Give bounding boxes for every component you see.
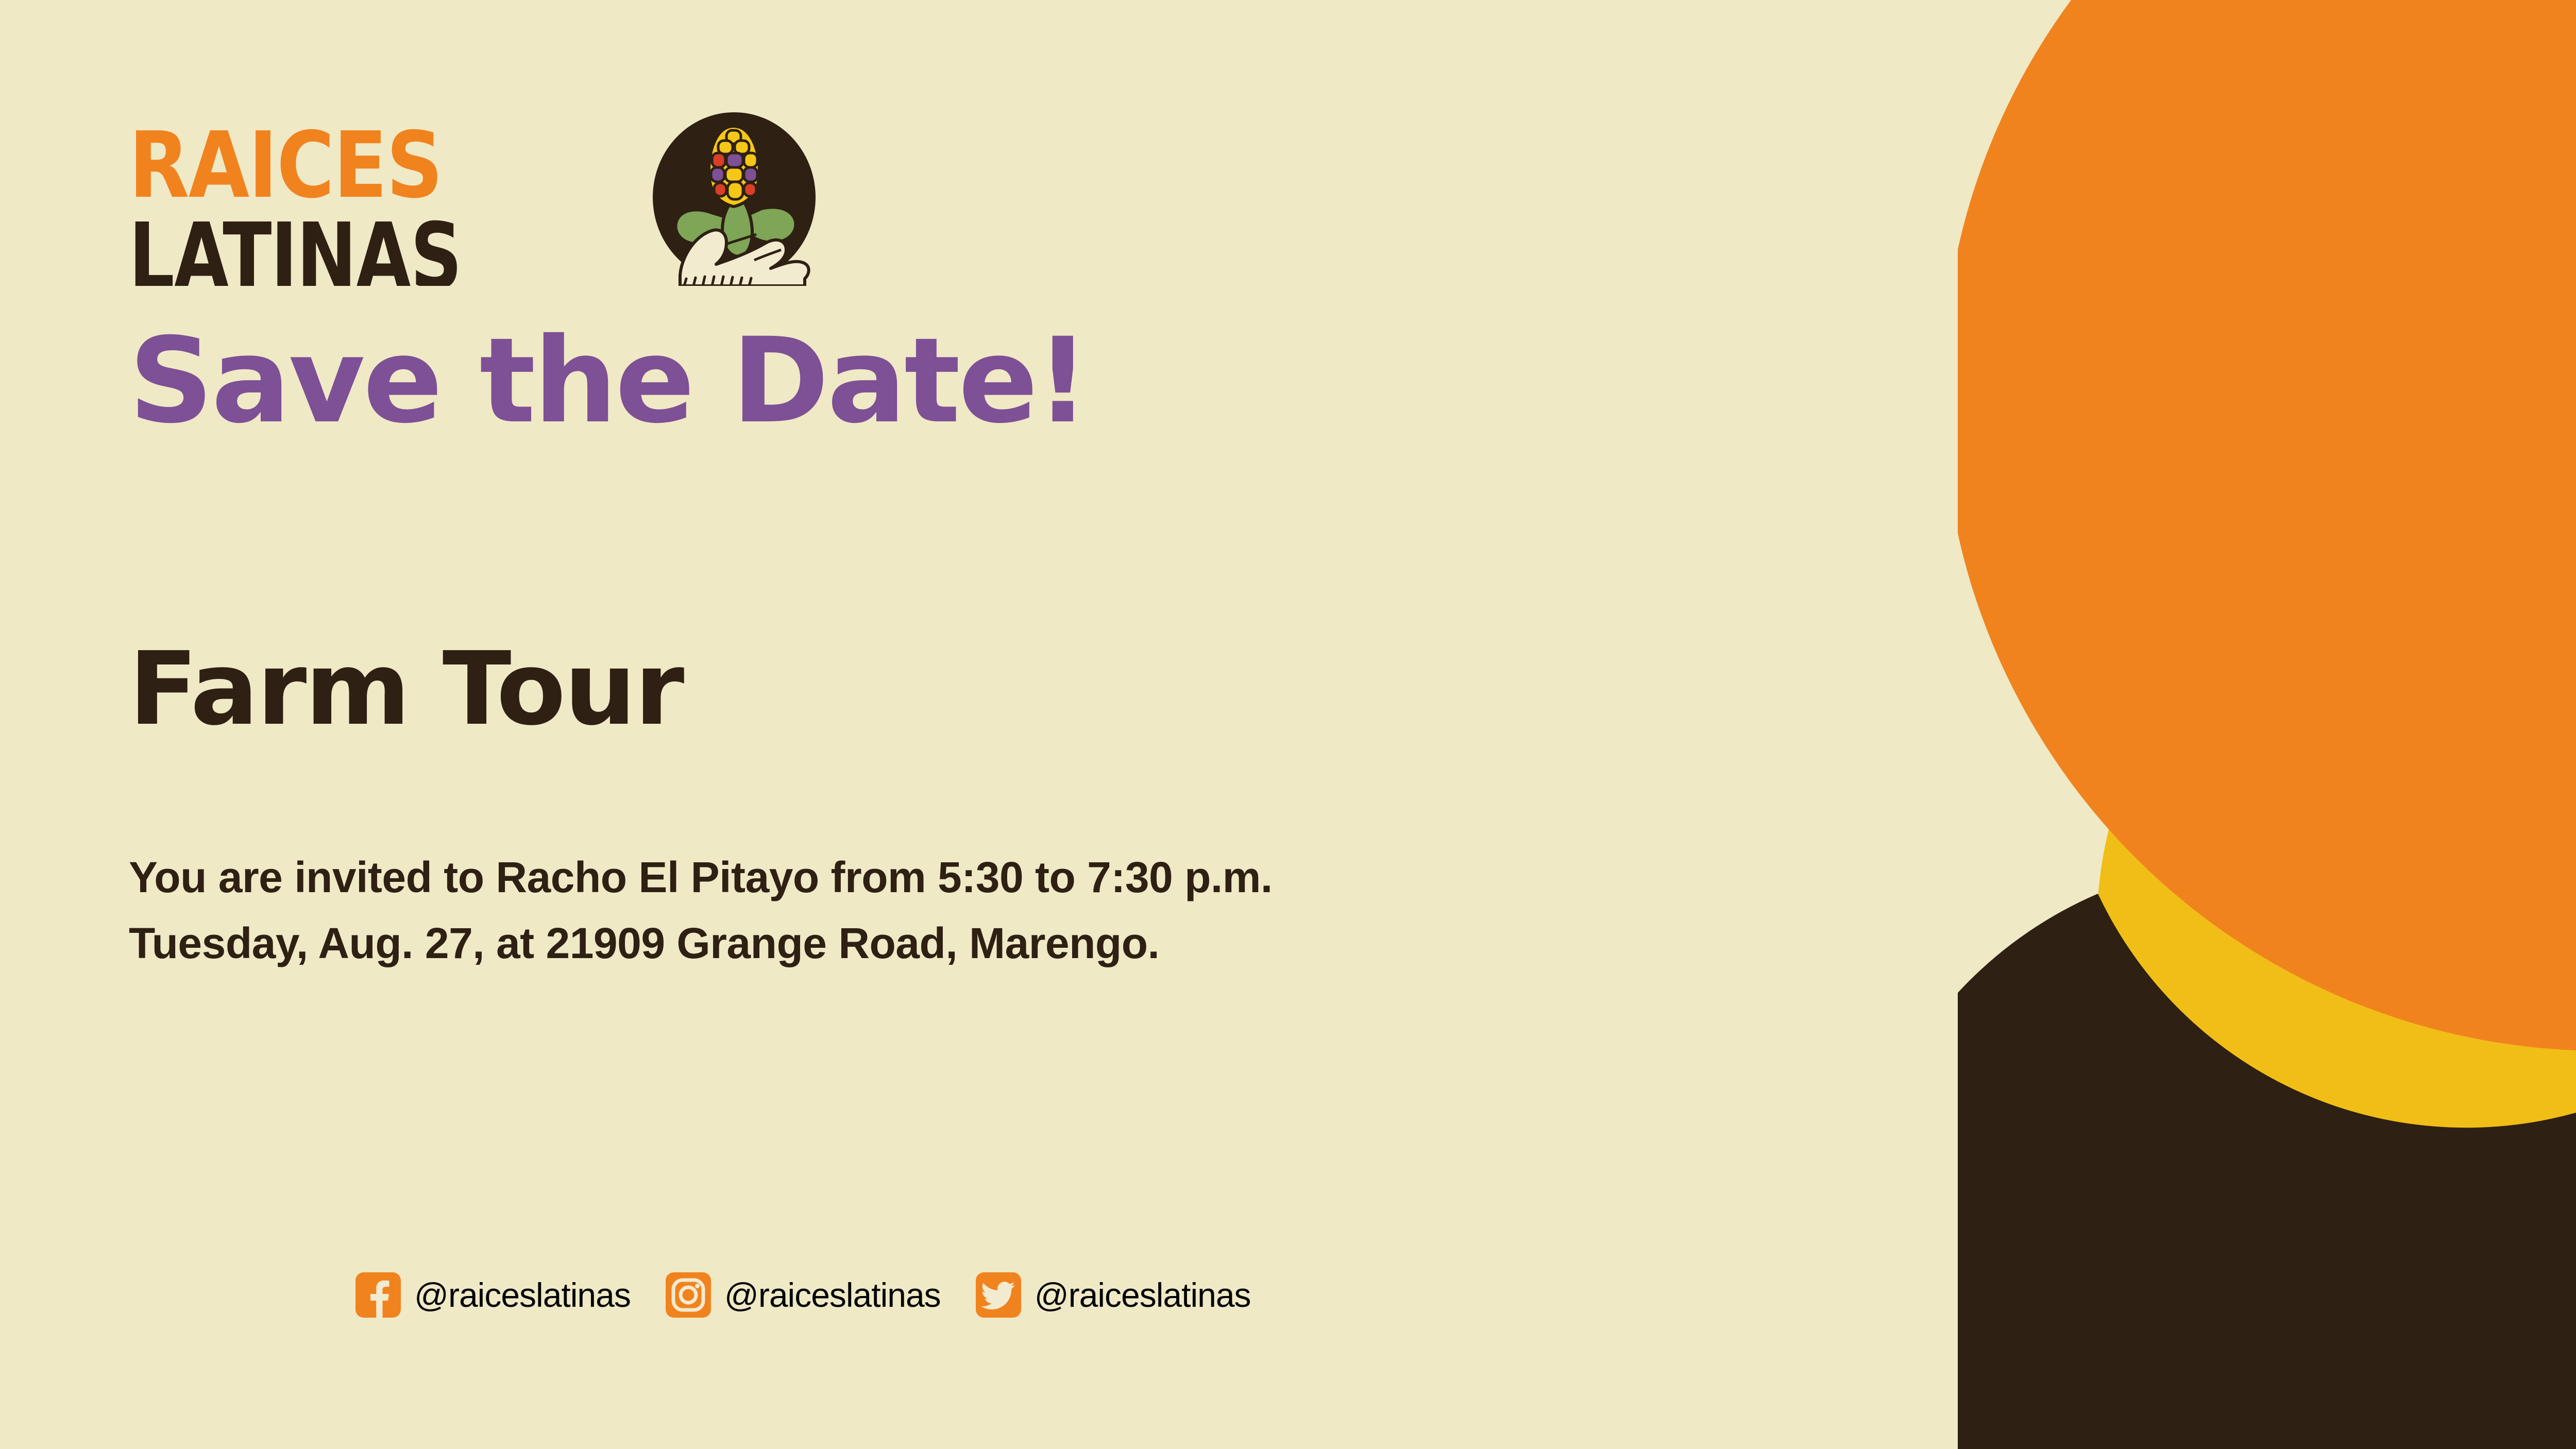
social-handle-instagram: @raiceslatinas: [724, 1275, 941, 1315]
event-detail-line-2: Tuesday, Aug. 27, at 21909 Grange Road, …: [129, 911, 1273, 977]
social-item-twitter[interactable]: @raiceslatinas: [976, 1272, 1251, 1318]
social-handle-twitter: @raiceslatinas: [1035, 1275, 1251, 1315]
instagram-icon[interactable]: [666, 1272, 711, 1318]
event-title: Farm Tour: [129, 639, 683, 740]
logo-wordmark-line2: LATINAS: [129, 203, 461, 286]
event-details: You are invited to Racho El Pitayo from …: [129, 845, 1273, 976]
decorative-shapes: [1958, 0, 2576, 1449]
facebook-icon[interactable]: [355, 1272, 401, 1318]
event-detail-line-1: You are invited to Racho El Pitayo from …: [129, 845, 1273, 911]
page-title: Save the Date!: [129, 322, 1088, 439]
brand-logo: RAICES LATINAS: [129, 106, 706, 291]
social-handle-facebook: @raiceslatinas: [414, 1275, 631, 1315]
brown-overlap-wedge: [1958, 894, 2576, 1449]
yellow-circle: [2097, 520, 2576, 1334]
save-the-date-flyer: RAICES LATINAS: [0, 0, 2576, 1449]
social-links: @raiceslatinas @raiceslatinas @raiceslat…: [355, 1272, 1251, 1318]
social-item-instagram[interactable]: @raiceslatinas: [666, 1272, 941, 1318]
orange-circle: [1958, 0, 2576, 1051]
twitter-icon[interactable]: [976, 1272, 1021, 1318]
brown-circle: [2045, 896, 2576, 1449]
social-item-facebook[interactable]: @raiceslatinas: [355, 1272, 631, 1318]
hand-holding-corn-icon: [649, 106, 819, 286]
logo-wordmark: RAICES LATINAS: [129, 106, 541, 286]
